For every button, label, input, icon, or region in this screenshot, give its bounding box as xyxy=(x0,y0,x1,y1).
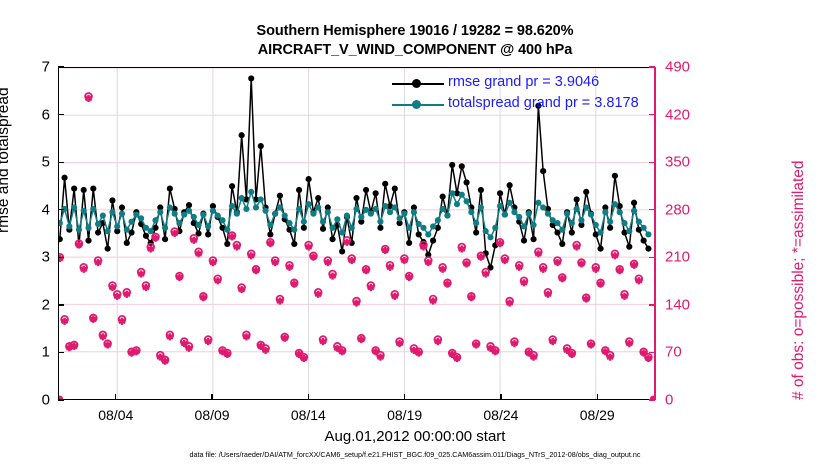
y-tick-label-left: 0 xyxy=(6,392,50,409)
y-tick-label-right: 420 xyxy=(665,106,713,123)
data-file-caption: data file: /Users/raeder/DAI/ATM_forcXX/… xyxy=(0,450,830,459)
y-tick-mark-left xyxy=(58,304,64,305)
legend-marker-icon xyxy=(412,79,421,88)
x-tick-label: 08/09 xyxy=(177,407,247,423)
x-tick-label: 08/29 xyxy=(562,407,632,423)
x-tick-label: 08/19 xyxy=(370,407,440,423)
y-tick-mark-left xyxy=(58,257,64,258)
x-axis-caption: Aug.01,2012 00:00:00 start xyxy=(0,428,830,445)
x-tick-mark xyxy=(308,394,309,400)
y-tick-label-right: 490 xyxy=(665,59,713,76)
y-tick-mark-right xyxy=(649,399,655,400)
x-tick-label: 08/04 xyxy=(81,407,151,423)
x-tick-mark xyxy=(211,394,212,400)
y-tick-mark-right xyxy=(649,257,655,258)
y-tick-label-left: 6 xyxy=(6,106,50,123)
title-line-1: Southern Hemisphere 19016 / 19282 = 98.6… xyxy=(0,22,830,41)
y-tick-label-right: 70 xyxy=(665,344,713,361)
y-tick-mark-right xyxy=(649,209,655,210)
x-tick-mark xyxy=(115,394,116,400)
y-axis-right-title: # of obs: o=possible; *=assimilated xyxy=(790,160,808,400)
legend-label: rmse grand pr = 3.9046 xyxy=(448,74,599,90)
y-tick-label-left: 2 xyxy=(6,296,50,313)
x-tick-mark xyxy=(597,394,598,400)
y-tick-mark-right xyxy=(649,352,655,353)
y-tick-label-right: 280 xyxy=(665,201,713,218)
x-tick-label: 08/24 xyxy=(466,407,536,423)
y-tick-mark-left xyxy=(58,352,64,353)
y-tick-label-left: 4 xyxy=(6,201,50,218)
legend-label: totalspread grand pr = 3.8178 xyxy=(448,95,639,111)
x-tick-label: 08/14 xyxy=(273,407,343,423)
y-tick-mark-right xyxy=(649,304,655,305)
y-tick-mark-left xyxy=(58,114,64,115)
chart-legend[interactable]: rmse grand pr = 3.9046totalspread grand … xyxy=(388,74,650,118)
y-tick-label-right: 140 xyxy=(665,296,713,313)
title-line-2: AIRCRAFT_V_WIND_COMPONENT @ 400 hPa xyxy=(0,41,830,60)
y-tick-label-left: 7 xyxy=(6,59,50,76)
y-tick-label-left: 3 xyxy=(6,249,50,266)
y-tick-label-right: 210 xyxy=(665,249,713,266)
y-tick-mark-left xyxy=(58,162,64,163)
y-tick-mark-left xyxy=(58,66,64,67)
y-tick-label-left: 5 xyxy=(6,154,50,171)
x-tick-mark xyxy=(404,394,405,400)
y-tick-mark-right xyxy=(649,162,655,163)
y-tick-mark-right xyxy=(649,66,655,67)
y-tick-mark-left xyxy=(58,209,64,210)
y-tick-label-left: 1 xyxy=(6,344,50,361)
chart-title: Southern Hemisphere 19016 / 19282 = 98.6… xyxy=(0,22,830,60)
chart-page: Southern Hemisphere 19016 / 19282 = 98.6… xyxy=(0,0,830,470)
y-tick-mark-left xyxy=(58,399,64,400)
legend-marker-icon xyxy=(412,100,421,109)
x-tick-mark xyxy=(500,394,501,400)
y-tick-label-right: 350 xyxy=(665,154,713,171)
right-axis-line xyxy=(654,67,656,400)
y-tick-label-right: 0 xyxy=(665,392,713,409)
